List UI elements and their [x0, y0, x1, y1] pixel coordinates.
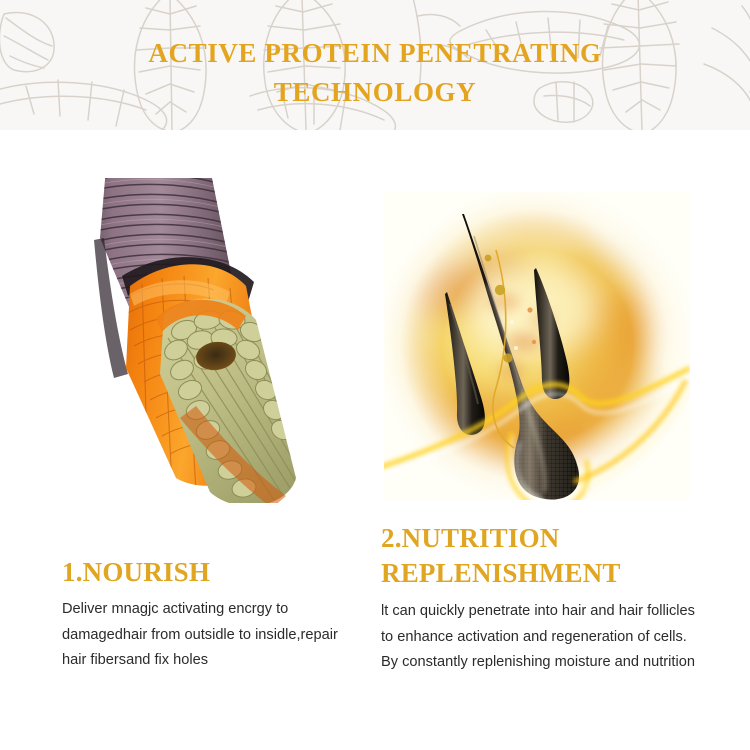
hair-shaft-cross-section-image — [60, 178, 360, 503]
section-nutrition-heading-line1: 2.NUTRITION — [381, 521, 706, 556]
page-title: ACTIVE PROTEIN PENETRATING TECHNOLOGY — [0, 34, 750, 112]
hair-follicles-image — [384, 192, 690, 500]
page-title-line1: ACTIVE PROTEIN PENETRATING — [0, 34, 750, 73]
section-nutrition-heading-line2: REPLENISHMENT — [381, 556, 706, 591]
follicle-illustration — [384, 192, 690, 500]
section-nutrition-heading: 2.NUTRITION REPLENISHMENT — [381, 521, 706, 591]
section-nourish-heading: 1.NOURISH — [62, 556, 352, 588]
section-nutrition-body: lt can quickly penetrate into hair and h… — [381, 599, 706, 676]
section-nutrition-replenishment: 2.NUTRITION REPLENISHMENT lt can quickly… — [381, 521, 706, 676]
section-nourish: 1.NOURISH Deliver mnagjc activating encr… — [62, 556, 352, 674]
header-banner: ACTIVE PROTEIN PENETRATING TECHNOLOGY — [0, 0, 750, 130]
page-title-line2: TECHNOLOGY — [0, 73, 750, 112]
hair-shaft-illustration — [60, 178, 360, 503]
section-nourish-body: Deliver mnagjc activating encrgy to dama… — [62, 597, 352, 674]
